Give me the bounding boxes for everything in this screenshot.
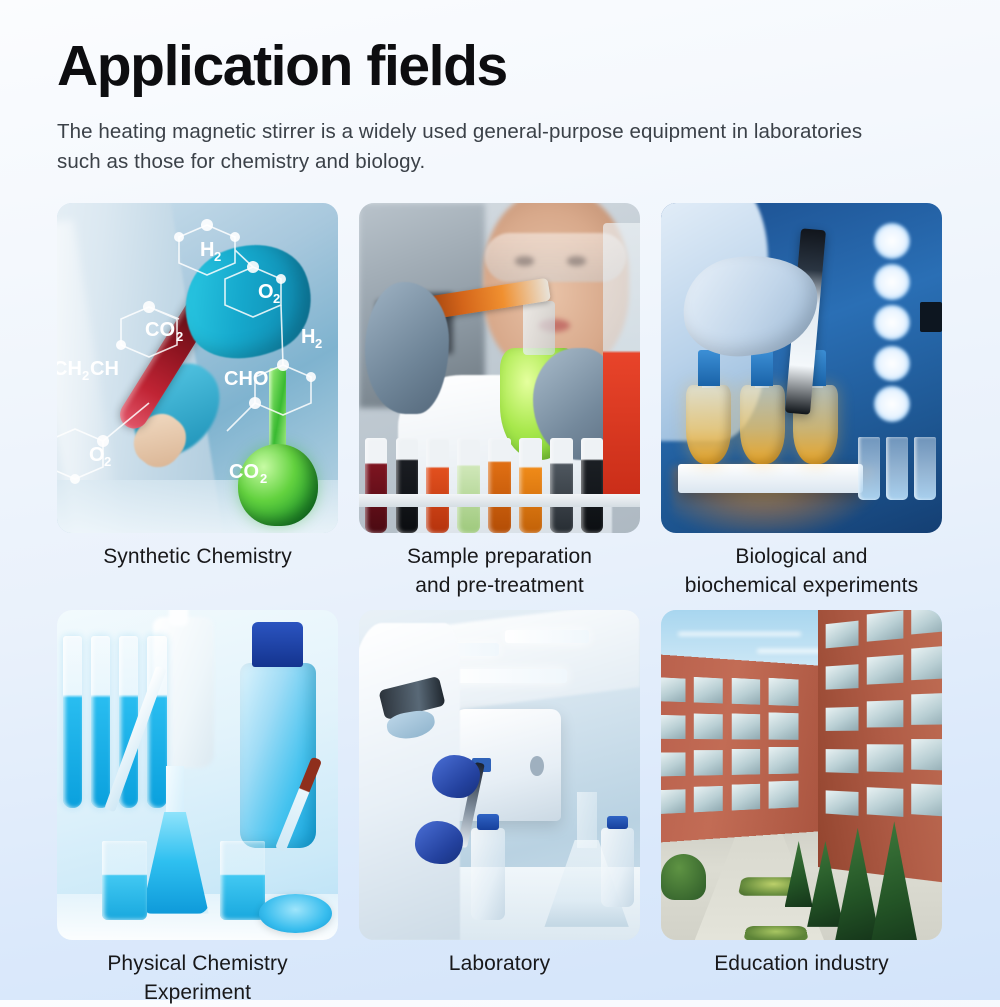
gallery-caption: Education industry: [661, 940, 942, 978]
scene-biological-experiments: [661, 203, 942, 533]
gallery-caption: Synthetic Chemistry: [57, 533, 338, 571]
reagent-bottle: [240, 663, 316, 848]
gallery-item-biological-experiments[interactable]: Biological andbiochemical experiments: [661, 203, 942, 600]
page-title: Application fields: [57, 0, 943, 95]
sample-vial: [886, 437, 908, 500]
thumbnail-biological-experiments[interactable]: [661, 203, 942, 533]
sample-vial: [914, 437, 936, 500]
erlenmeyer-flask: [740, 385, 785, 464]
ceiling-light: [505, 630, 589, 643]
reagent-bottle: [601, 828, 635, 907]
scene-sample-preparation: [359, 203, 640, 533]
gallery-item-physical-chemistry[interactable]: Physical ChemistryExperiment: [57, 610, 338, 1007]
gallery-caption: Laboratory: [359, 940, 640, 978]
svg-text:H: H: [301, 326, 315, 348]
bottle-cap: [252, 622, 304, 666]
background-lights: [863, 223, 925, 428]
svg-text:2: 2: [315, 336, 322, 351]
page-subtitle: The heating magnetic stirrer is a widely…: [57, 95, 887, 177]
scene-laboratory: [359, 610, 640, 940]
test-tube-rack: [359, 408, 640, 533]
gallery-item-education-industry[interactable]: Education industry: [661, 610, 942, 1007]
gallery-item-sample-preparation[interactable]: Sample preparationand pre-treatment: [359, 203, 640, 600]
gallery-item-laboratory[interactable]: Laboratory: [359, 610, 640, 1007]
rack-base: [359, 494, 640, 507]
svg-text:O: O: [89, 444, 105, 466]
school-building-right: [818, 610, 942, 885]
beaker: [220, 841, 265, 920]
erlenmeyer-flask: [686, 385, 731, 464]
gallery-caption: Biological andbiochemical experiments: [661, 533, 942, 600]
ceiling-light: [443, 669, 567, 682]
scene-synthetic-chemistry: H2 O2 CO2 CHO H2 O2 CO2 CH2CH: [57, 203, 338, 533]
flask-body: [141, 812, 208, 914]
svg-text:2: 2: [176, 329, 183, 344]
application-gallery-grid: H2 O2 CO2 CHO H2 O2 CO2 CH2CH: [57, 203, 943, 1007]
svg-text:CO: CO: [229, 461, 259, 483]
svg-text:CH: CH: [90, 358, 119, 380]
sample-vial: [858, 437, 880, 500]
test-tube: [91, 636, 111, 808]
reagent-bottle: [471, 828, 505, 920]
test-tube: [63, 636, 83, 808]
thumbnail-physical-chemistry[interactable]: [57, 610, 338, 940]
molecule-overlay: H2 O2 CO2 CHO H2 O2 CO2 CH2CH: [57, 203, 338, 533]
svg-text:CH: CH: [57, 358, 82, 380]
dark-panel: [920, 302, 942, 332]
thumbnail-sample-preparation[interactable]: [359, 203, 640, 533]
flower-bed: [744, 926, 809, 940]
school-building-left: [661, 654, 824, 843]
svg-text:CO: CO: [145, 319, 175, 341]
application-fields-page: Application fields The heating magnetic …: [0, 0, 1000, 1000]
svg-text:2: 2: [82, 368, 89, 383]
svg-text:H: H: [200, 239, 214, 261]
flask-stand: [678, 464, 863, 494]
svg-text:2: 2: [260, 471, 267, 486]
thumbnail-synthetic-chemistry[interactable]: H2 O2 CO2 CHO H2 O2 CO2 CH2CH: [57, 203, 338, 533]
hedge: [661, 854, 706, 900]
scene-physical-chemistry: [57, 610, 338, 940]
thumbnail-laboratory[interactable]: [359, 610, 640, 940]
scene-education-industry: [661, 610, 942, 940]
gallery-caption: Physical ChemistryExperiment: [57, 940, 338, 1007]
svg-text:O: O: [258, 281, 274, 303]
gallery-caption: Sample preparationand pre-treatment: [359, 533, 640, 600]
blue-glove: [432, 755, 480, 798]
thumbnail-education-industry[interactable]: [661, 610, 942, 940]
svg-text:CHO: CHO: [224, 368, 268, 390]
svg-text:2: 2: [273, 291, 280, 306]
svg-text:2: 2: [104, 454, 111, 469]
gallery-item-synthetic-chemistry[interactable]: H2 O2 CO2 CHO H2 O2 CO2 CH2CH: [57, 203, 338, 600]
beaker: [102, 841, 147, 920]
left-glove: [365, 282, 449, 414]
conical-flask: [141, 768, 208, 913]
svg-text:2: 2: [214, 249, 221, 264]
blue-glove: [415, 821, 463, 864]
